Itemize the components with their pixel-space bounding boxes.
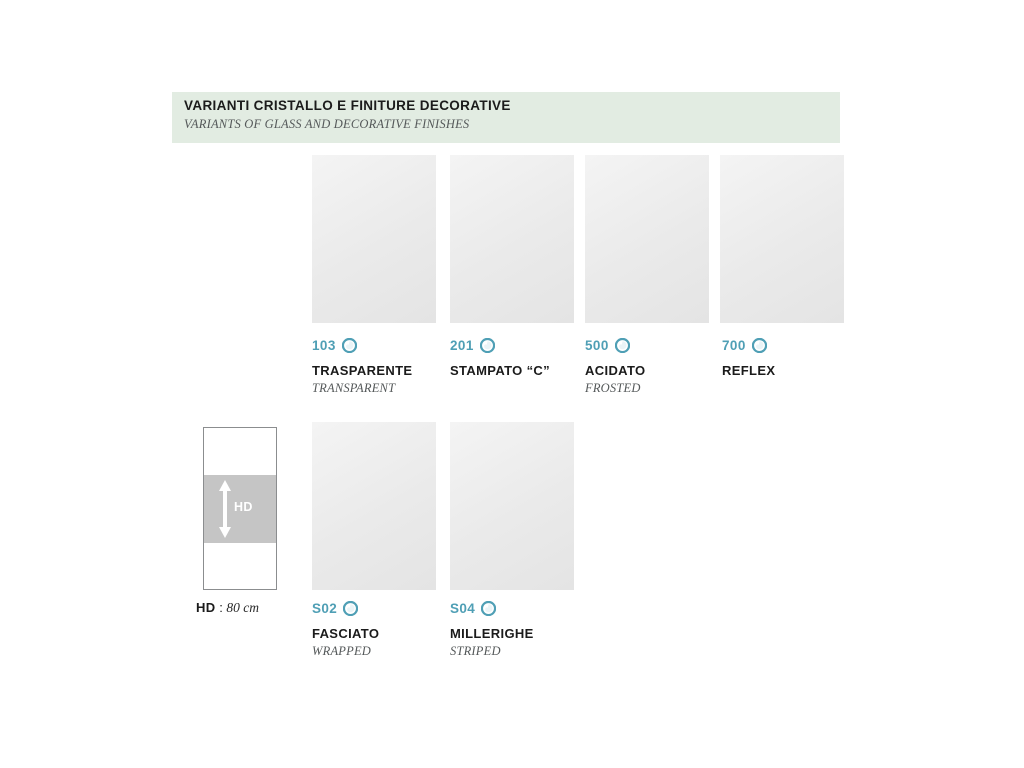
sample-background [720,155,844,323]
reflex-glass-sample [720,155,844,323]
sample-code-row: 103 [312,336,412,354]
striped-glass-sample [450,422,574,590]
hd-double-arrow-icon [218,480,232,538]
page-title: VARIANTI CRISTALLO E FINITURE DECORATIVE [184,98,511,113]
hd-band-label: HD [234,500,253,514]
sample-code: S04 [450,601,475,616]
sample-code-row: 201 [450,336,550,354]
sample-name-en: STRIPED [450,644,534,659]
section-header: VARIANTI CRISTALLO E FINITURE DECORATIVE… [172,92,840,143]
transparent-glass-sample [312,155,436,323]
sample-name-it: REFLEX [722,363,775,378]
glass-finish-icon [343,601,358,616]
sample-code-row: 700 [722,336,775,354]
sample-label: 201 STAMPATO “C” [450,336,550,381]
sample-background [585,155,709,323]
glass-finish-icon [481,601,496,616]
sample-code-row: 500 [585,336,645,354]
sample-code: 500 [585,338,609,353]
sample-label: 700 REFLEX [722,336,775,381]
sample-background [450,422,574,590]
hd-caption-value: 80 cm [226,600,259,615]
glass-finish-icon [342,338,357,353]
sample-name-en: WRAPPED [312,644,379,659]
sample-code: 103 [312,338,336,353]
wrapped-glass-sample [312,422,436,590]
sample-name-it: STAMPATO “C” [450,363,550,378]
hd-caption: HD : 80 cm [196,600,259,616]
glass-finish-icon [615,338,630,353]
sample-code: 201 [450,338,474,353]
sample-name-it: FASCIATO [312,626,379,641]
sample-code: 700 [722,338,746,353]
sample-name-it: TRASPARENTE [312,363,412,378]
sample-name-en: TRANSPARENT [312,381,412,396]
frosted-glass-sample [585,155,709,323]
sample-name-it: ACIDATO [585,363,645,378]
sample-code-row: S02 [312,599,379,617]
page-subtitle: VARIANTS OF GLASS AND DECORATIVE FINISHE… [184,117,469,132]
sample-name-it: MILLERIGHE [450,626,534,641]
sample-code: S02 [312,601,337,616]
hd-caption-separator: : [216,600,227,615]
sample-label: S04 MILLERIGHE STRIPED [450,599,534,659]
catalog-page: VARIANTI CRISTALLO E FINITURE DECORATIVE… [0,0,1024,768]
hd-dimension-diagram: HD [203,427,277,590]
sample-label: 103 TRASPARENTE TRANSPARENT [312,336,412,396]
sample-background [450,155,574,323]
hd-caption-label: HD [196,600,216,615]
glass-finish-icon [480,338,495,353]
sample-code-row: S04 [450,599,534,617]
sample-background [312,422,436,590]
patterned-c-glass-sample [450,155,574,323]
sample-background [312,155,436,323]
sample-label: 500 ACIDATO FROSTED [585,336,645,396]
sample-label: S02 FASCIATO WRAPPED [312,599,379,659]
glass-finish-icon [752,338,767,353]
sample-name-en: FROSTED [585,381,645,396]
